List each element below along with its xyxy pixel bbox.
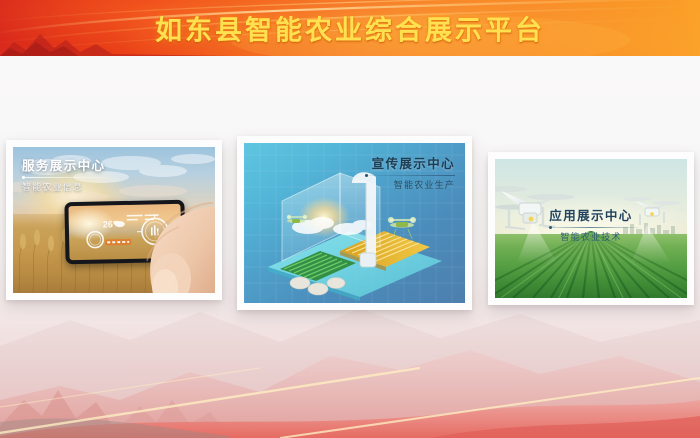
caption-divider xyxy=(543,227,639,228)
card-application-title: 应用展示中心 xyxy=(495,209,687,223)
app-root: 如东县智能农业综合展示平台 xyxy=(0,0,700,438)
card-application-image: 应用展示中心 智能农业技术 xyxy=(495,159,687,298)
card-service-subtitle: 智能农业信息 xyxy=(22,182,108,192)
card-service-image: 26° xyxy=(13,147,215,293)
card-promotion-caption: 宣传展示中心 智能农业生产 xyxy=(365,157,455,191)
card-application-display-center[interactable]: 应用展示中心 智能农业技术 xyxy=(488,152,694,305)
caption-divider xyxy=(365,175,455,176)
header-banner: 如东县智能农业综合展示平台 xyxy=(0,0,700,56)
card-promotion-subtitle: 智能农业生产 xyxy=(365,180,455,190)
card-service-caption: 服务展示中心 智能农业信息 xyxy=(22,159,108,193)
card-application-caption: 应用展示中心 智能农业技术 xyxy=(495,209,687,243)
card-promotion-title: 宣传展示中心 xyxy=(365,157,455,171)
page-title: 如东县智能农业综合展示平台 xyxy=(0,9,700,48)
card-promotion-display-center[interactable]: 宣传展示中心 智能农业生产 xyxy=(237,136,472,310)
hand-holding-phone xyxy=(125,183,215,293)
caption-divider xyxy=(22,177,108,178)
card-promotion-image: 宣传展示中心 智能农业生产 xyxy=(244,143,465,303)
card-application-subtitle: 智能农业技术 xyxy=(495,232,687,242)
card-service-title: 服务展示中心 xyxy=(22,159,108,173)
card-service-display-center[interactable]: 26° xyxy=(6,140,222,300)
